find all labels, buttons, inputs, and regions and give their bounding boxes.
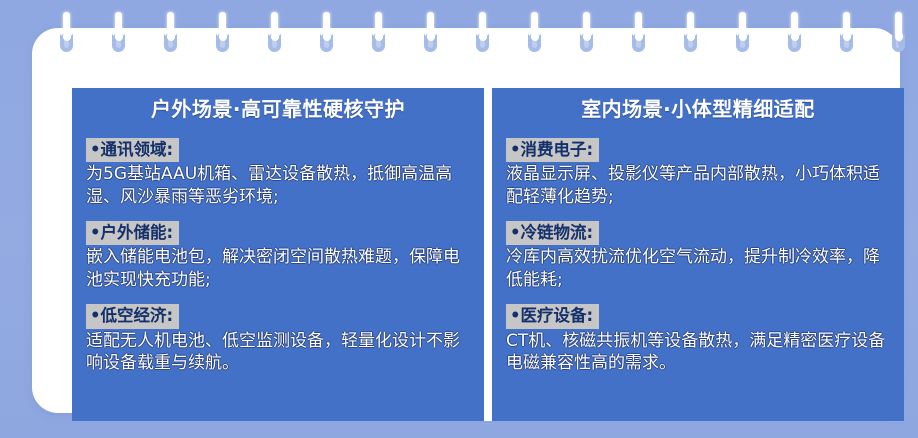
entry-text: 适配无人机电池、低空监测设备，轻量化设计不影响设备载重与续航。: [86, 330, 472, 375]
column-body-right: •消费电子: 液晶显示屏、投影仪等产品内部散热，小巧体积适配轻薄化趋势; •冷链…: [492, 130, 904, 374]
column-outdoor-scenarios: 户外场景·高可靠性硬核守护 •通讯领域: 为5G基站AAU机箱、雷达设备散热，抵…: [72, 88, 484, 421]
notebook-card: 户外场景·高可靠性硬核守护 •通讯领域: 为5G基站AAU机箱、雷达设备散热，抵…: [32, 28, 900, 413]
list-item: •消费电子: 液晶显示屏、投影仪等产品内部散热，小巧体积适配轻薄化趋势;: [506, 138, 892, 208]
column-title-left: 户外场景·高可靠性硬核守护: [72, 88, 484, 130]
entry-label: •通讯领域:: [86, 138, 179, 162]
ring-shaft: [895, 12, 902, 42]
entry-label: •医疗设备:: [506, 304, 599, 328]
entry-label: •低空经济:: [86, 304, 179, 328]
list-item: •医疗设备: CT机、核磁共振机等设备散热，满足精密医疗设备电磁兼容性高的需求。: [506, 304, 892, 374]
entry-text: 嵌入储能电池包，解决密闭空间散热难题，保障电池实现快充功能;: [86, 246, 472, 291]
entry-text: 冷库内高效扰流优化空气流动，提升制冷效率，降低能耗;: [506, 246, 892, 291]
entry-text: CT机、核磁共振机等设备散热，满足精密医疗设备电磁兼容性高的需求。: [506, 330, 892, 375]
entry-text: 液晶显示屏、投影仪等产品内部散热，小巧体积适配轻薄化趋势;: [506, 163, 892, 208]
column-body-left: •通讯领域: 为5G基站AAU机箱、雷达设备散热，抵御高温高湿、风沙暴雨等恶劣环…: [72, 130, 484, 374]
column-title-right: 室内场景·小体型精细适配: [492, 88, 904, 130]
list-item: •冷链物流: 冷库内高效扰流优化空气流动，提升制冷效率，降低能耗;: [506, 221, 892, 291]
list-item: •户外储能: 嵌入储能电池包，解决密闭空间散热难题，保障电池实现快充功能;: [86, 221, 472, 291]
entry-label: •冷链物流:: [506, 221, 599, 245]
list-item: •通讯领域: 为5G基站AAU机箱、雷达设备散热，抵御高温高湿、风沙暴雨等恶劣环…: [86, 138, 472, 208]
content-panel: 户外场景·高可靠性硬核守护 •通讯领域: 为5G基站AAU机箱、雷达设备散热，抵…: [72, 88, 904, 421]
entry-label: •消费电子:: [506, 138, 599, 162]
column-indoor-scenarios: 室内场景·小体型精细适配 •消费电子: 液晶显示屏、投影仪等产品内部散热，小巧体…: [492, 88, 904, 421]
column-divider: [484, 88, 492, 421]
entry-label: •户外储能:: [86, 221, 179, 245]
list-item: •低空经济: 适配无人机电池、低空监测设备，轻量化设计不影响设备载重与续航。: [86, 304, 472, 374]
entry-text: 为5G基站AAU机箱、雷达设备散热，抵御高温高湿、风沙暴雨等恶劣环境;: [86, 163, 472, 208]
slide-canvas: 户外场景·高可靠性硬核守护 •通讯领域: 为5G基站AAU机箱、雷达设备散热，抵…: [0, 0, 918, 438]
